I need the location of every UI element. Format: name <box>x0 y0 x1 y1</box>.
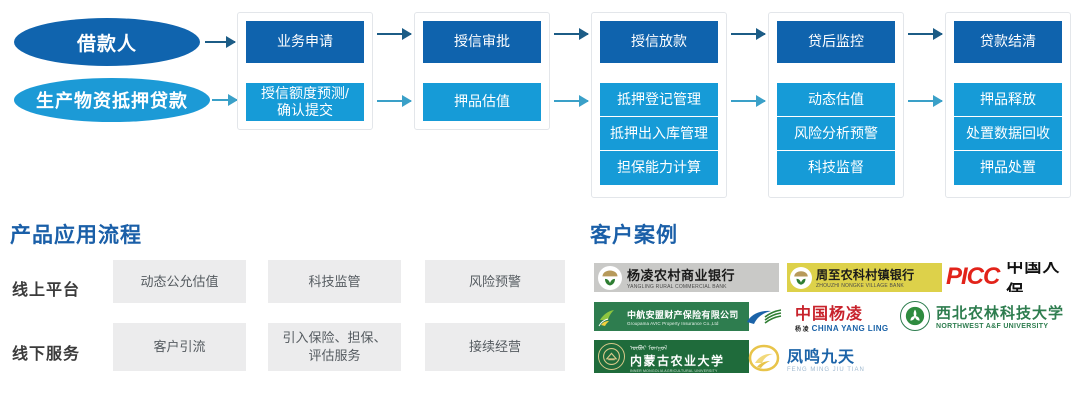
arrow-col1-to-col2-light <box>377 100 411 102</box>
logo-nwafu-en: NORTHWEST A&F UNIVERSITY <box>936 323 1064 330</box>
logo-picc: PICC 中国人保 <box>946 262 1076 292</box>
flow-column-2: 授信审批 押品估值 <box>414 12 550 130</box>
flow-col4-item-2[interactable]: 风险分析预警 <box>777 117 895 151</box>
logo-imau-en: INNER MONGOLIA AGRICULTURAL UNIVERSITY <box>630 369 725 373</box>
flow-col4-item-3[interactable]: 科技监督 <box>777 151 895 185</box>
process-cell-online-1[interactable]: 动态公允估值 <box>113 260 246 303</box>
flow-col1-item-1[interactable]: 授信额度预测/ 确认提交 <box>246 83 364 121</box>
flow-col5-stage[interactable]: 贷款结清 <box>954 21 1062 63</box>
flow-column-5: 贷款结清 押品释放 处置数据回收 押品处置 <box>945 12 1071 198</box>
logo-imau-cn: 内蒙古农业大学 <box>630 352 725 369</box>
phoenix-icon <box>745 343 783 373</box>
avic-emblem-icon <box>598 306 622 328</box>
leaf-emblem-icon <box>790 267 812 289</box>
customer-cases-title: 客户案例 <box>590 219 678 249</box>
nwafu-seal-icon <box>900 301 930 331</box>
flow-col5-item-1[interactable]: 押品释放 <box>954 83 1062 117</box>
logo-yangling-cn: 杨凌农村商业银行 <box>627 265 735 284</box>
logo-picc-cn: 中国人保 <box>1006 262 1076 292</box>
flow-col3-item-1[interactable]: 抵押登记管理 <box>600 83 718 117</box>
logo-inner-mongolia-agricultural-university: ᠦᠪᠦᠷ ᠮᠣᠩᠭᠤᠯ 内蒙古农业大学 INNER MONGOLIA AGRIC… <box>594 340 749 373</box>
logo-yangling-city-sub: 杨 凌 <box>795 324 809 333</box>
flow-col2-item-1[interactable]: 押品估值 <box>423 83 541 121</box>
logo-groupama-avic-property-insurance: 中航安盟财产保险有限公司 Groupama AVIC Property Insu… <box>594 302 749 331</box>
flow-col5-item-3[interactable]: 押品处置 <box>954 151 1062 185</box>
logo-yangling-city-en: CHINA YANG LING <box>812 324 889 333</box>
product-process-title: 产品应用流程 <box>10 219 142 249</box>
picc-wordmark: PICC <box>946 263 999 291</box>
leaf-emblem-icon <box>598 266 622 290</box>
arrow-col3-to-col4-dark <box>731 33 765 35</box>
arrow-col3-to-col4-light <box>731 100 765 102</box>
logo-yangling-rural-commercial-bank: 杨凌农村商业银行 YANGLING RURAL COMMERCIAL BANK <box>594 263 779 292</box>
process-cell-offline-2[interactable]: 引入保险、担保、 评估服务 <box>268 323 401 371</box>
logo-northwest-af-university: 西北农林科技大学 NORTHWEST A&F UNIVERSITY <box>900 298 1078 334</box>
logo-yangling-city-cn: 中国杨凌 <box>795 300 889 324</box>
flow-input-mortgage-loan[interactable]: 生产物资抵押贷款 <box>14 78 210 122</box>
flow-col2-stage[interactable]: 授信审批 <box>423 21 541 63</box>
logo-fengming-cn: 凤鸣九天 <box>787 343 865 367</box>
logo-nwafu-cn: 西北农林科技大学 <box>936 302 1064 323</box>
yangling-wheat-icon <box>745 303 791 331</box>
flow-col3-stage[interactable]: 授信放款 <box>600 21 718 63</box>
flow-col3-item-3[interactable]: 担保能力计算 <box>600 151 718 185</box>
process-row-label-offline: 线下服务 <box>12 340 80 364</box>
process-cell-offline-1[interactable]: 客户引流 <box>113 323 246 371</box>
flow-col4-item-1[interactable]: 动态估值 <box>777 83 895 117</box>
logo-fengming-en: FENG MING JIU TIAN <box>787 367 865 373</box>
flow-col4-stage[interactable]: 贷后监控 <box>777 21 895 63</box>
arrow-col2-to-col3-dark <box>554 33 588 35</box>
imau-seal-icon <box>598 343 625 370</box>
flow-column-1: 业务申请 授信额度预测/ 确认提交 <box>237 12 373 130</box>
logo-china-yang-ling: 中国杨凌 杨 凌 CHINA YANG LING <box>745 300 895 333</box>
logo-fengming-jiutian: 凤鸣九天 FENG MING JIU TIAN <box>745 341 895 374</box>
process-row-label-online: 线上平台 <box>12 276 80 300</box>
loan-process-flow-diagram: 借款人 生产物资抵押贷款 业务申请 授信额度预测/ 确认提交 授信审批 押品估值 <box>0 0 1080 200</box>
process-cell-online-3[interactable]: 风险预警 <box>425 260 565 303</box>
logo-zhouzhi-cn: 周至农科村镇银行 <box>816 266 914 283</box>
flow-col1-stage[interactable]: 业务申请 <box>246 21 364 63</box>
logo-groupama-en: Groupama AVIC Property Insurance Co.,Ltd <box>627 321 739 326</box>
process-cell-offline-3[interactable]: 接续经营 <box>425 323 565 371</box>
flow-column-4: 贷后监控 动态估值 风险分析预警 科技监督 <box>768 12 904 198</box>
logo-yangling-en: YANGLING RURAL COMMERCIAL BANK <box>627 284 735 290</box>
process-cell-online-2[interactable]: 科技监管 <box>268 260 401 303</box>
flow-column-3: 授信放款 抵押登记管理 抵押出入库管理 担保能力计算 <box>591 12 727 198</box>
arrow-col1-to-col2-dark <box>377 33 411 35</box>
flow-col5-item-2[interactable]: 处置数据回收 <box>954 117 1062 151</box>
logo-groupama-cn: 中航安盟财产保险有限公司 <box>627 308 739 321</box>
logo-zhouzhi-en: ZHOUZHI NONGKE VILLAGE BANK <box>816 283 914 289</box>
flow-col3-item-2[interactable]: 抵押出入库管理 <box>600 117 718 151</box>
arrow-mortgage-to-col1 <box>212 99 237 101</box>
arrow-col4-to-col5-light <box>908 100 942 102</box>
flow-input-borrower[interactable]: 借款人 <box>14 18 200 66</box>
arrow-borrower-to-col1 <box>205 41 235 43</box>
flow-input-mortgage-loan-label: 生产物资抵押贷款 <box>36 87 188 113</box>
arrow-col4-to-col5-dark <box>908 33 942 35</box>
logo-imau-mongolian: ᠦᠪᠦᠷ ᠮᠣᠩᠭᠤᠯ <box>630 341 725 352</box>
slide-root: 借款人 生产物资抵押贷款 业务申请 授信额度预测/ 确认提交 授信审批 押品估值 <box>0 0 1080 401</box>
arrow-col2-to-col3-light <box>554 100 588 102</box>
flow-input-borrower-label: 借款人 <box>77 29 137 56</box>
logo-zhouzhi-nongke-village-bank: 周至农科村镇银行 ZHOUZHI NONGKE VILLAGE BANK <box>787 263 942 292</box>
